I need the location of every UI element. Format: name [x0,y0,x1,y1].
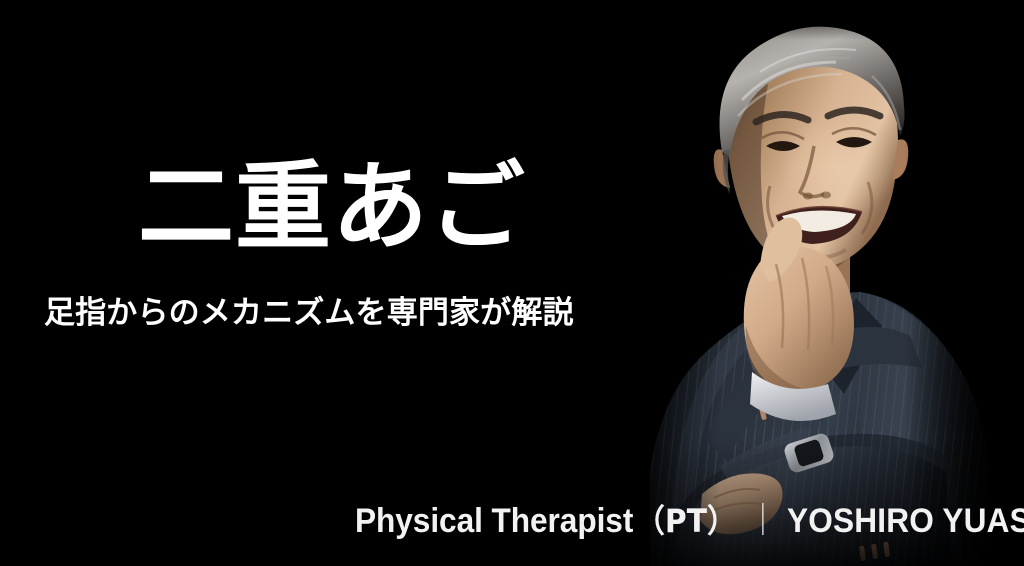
credit-certification: （PT） [635,505,737,537]
subtitle-text: 足指からのメカニズムを専門家が解説 [44,295,574,332]
credit-role: Physical Therapist [355,504,633,538]
credit-line: Physical Therapist （PT） ｜ YOSHIRO YUASA [355,504,1024,538]
credit-divider: ｜ [748,504,778,536]
portrait-illustration [610,0,1024,566]
headline-title: 二重あご [138,157,526,258]
video-thumbnail-banner: 二重あご 足指からのメカニズムを専門家が解説 Physical Therapis… [0,0,1024,566]
portrait-photo [610,0,1024,566]
credit-person-name: YOSHIRO YUASA [787,504,1024,538]
